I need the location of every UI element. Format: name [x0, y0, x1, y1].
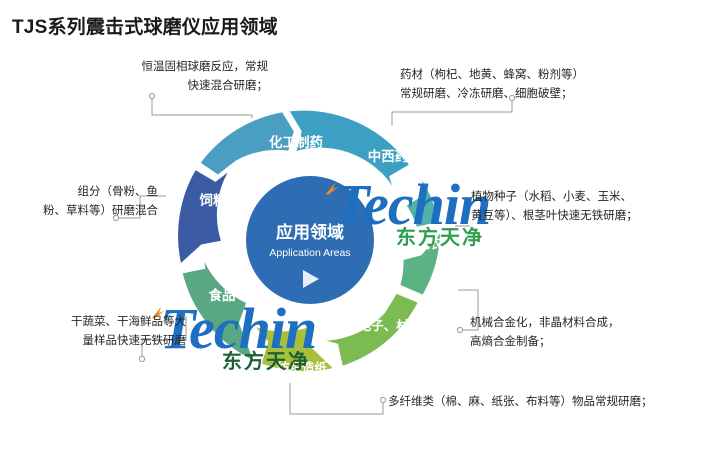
annotation-feed-line2: 粉、草料等）研磨混合	[8, 202, 158, 221]
annotation-materials: 机械合金化，非晶材料合成， 高熵合金制备；	[470, 314, 670, 352]
segment-label-electronics-materials: 电子、材料	[359, 318, 422, 333]
segment-label-feed: 饲料	[199, 192, 227, 208]
connector-textile	[290, 383, 383, 414]
segment-label-food: 食品	[209, 287, 236, 303]
annotation-textile: 多纤维类（棉、麻、纸张、布料等）物品常规研磨；	[388, 393, 718, 412]
annotation-feed-line1: 组分（骨粉、鱼	[8, 183, 158, 202]
annotation-agriculture: 植物种子（水稻、小麦、玉米、 黄豆等）、根茎叶快速无铁研磨；	[471, 188, 723, 226]
annotation-food-line2: 量样品快速无铁研磨	[8, 332, 186, 351]
annotation-medicine-line1: 药材（枸杞、地黄、蜂窝、粉剂等）	[400, 66, 650, 85]
endpoint-textile	[380, 397, 385, 402]
annotation-materials-line1: 机械合金化，非晶材料合成，	[470, 314, 670, 333]
annotation-medicine: 药材（枸杞、地黄、蜂窝、粉剂等） 常规研磨、冷冻研磨、细胞破壁；	[400, 66, 650, 104]
annotation-chemical-pharma-line2: 快速混合研磨；	[88, 77, 268, 96]
center-label-en: Application Areas	[269, 247, 350, 259]
center-label-cn: 应用领域	[276, 222, 344, 242]
segment-label-chinese-western-medicine: 中西药	[368, 148, 409, 164]
segment-feed-wedge	[176, 166, 233, 266]
infographic-page: TJS系列震击式球磨仪应用领域	[0, 0, 726, 450]
annotation-medicine-line2: 常规研磨、冷冻研磨、细胞破壁；	[400, 85, 650, 104]
endpoint-materials	[457, 327, 462, 332]
segment-label-chemical-pharma: 化工制药	[269, 134, 323, 150]
segment-label-textile-papermaking: 纺织造纸	[277, 360, 328, 375]
annotation-food: 干蔬菜、干海鲜品等大 量样品快速无铁研磨	[8, 313, 186, 351]
annotation-textile-line1: 多纤维类（棉、麻、纸张、布料等）物品常规研磨；	[388, 393, 718, 412]
endpoint-food	[139, 356, 144, 361]
annotation-chemical-pharma: 恒温固相球磨反应，常规 快速混合研磨；	[88, 58, 268, 96]
annotation-materials-line2: 高熵合金制备；	[470, 333, 670, 352]
annotation-food-line1: 干蔬菜、干海鲜品等大	[8, 313, 186, 332]
segment-food	[181, 243, 256, 363]
annotation-agriculture-line2: 黄豆等）、根茎叶快速无铁研磨；	[471, 207, 723, 226]
annotation-chemical-pharma-line1: 恒温固相球磨反应，常规	[88, 58, 268, 77]
annotation-agriculture-line1: 植物种子（水稻、小麦、玉米、	[471, 188, 723, 207]
segment-label-environment-agriculture: 环境农业	[405, 236, 456, 251]
annotation-feed: 组分（骨粉、鱼 粉、草料等）研磨混合	[8, 183, 158, 221]
